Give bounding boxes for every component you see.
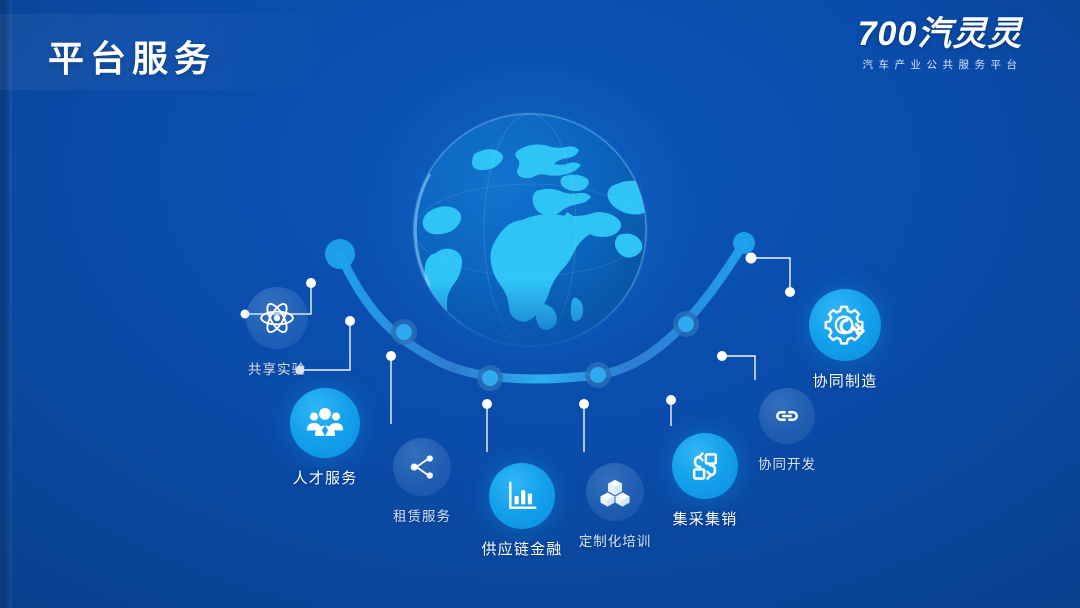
collaborative-development-bubble[interactable] [759,388,815,444]
logo-tagline: 汽车产业公共服务平台 [830,57,1050,72]
bar-chart-icon [502,476,542,516]
customized-training-label: 定制化培训 [550,530,680,550]
slide-canvas: 平台服务 700汽灵灵 汽车产业公共服务平台 [0,0,1080,608]
page-title: 平台服务 [48,30,216,82]
left-edge-strip [0,0,9,608]
exchange-arrows-icon [685,446,725,486]
node-collaborative-development[interactable]: 协同开发 [727,388,847,473]
collaborative-development-label: 协同开发 [727,453,847,473]
globe-icon [404,104,656,356]
supply-chain-finance-bubble[interactable] [489,463,555,529]
shared-lab-bubble[interactable] [246,287,308,349]
left-edge-highlight [9,0,12,608]
atom-icon [258,299,296,337]
globe-svg [404,104,656,356]
brand-logo: 700汽灵灵 汽车产业公共服务平台 [830,16,1050,72]
shared-lab-label: 共享实验 [217,358,337,378]
share-network-icon [405,450,439,484]
customized-training-bubble[interactable] [586,463,644,521]
gear-wrench-icon [822,302,868,348]
logo-wordmark: 700汽灵灵 [830,16,1050,52]
people-group-icon [303,401,347,445]
collaborative-manufacturing-label: 协同制造 [785,370,905,391]
leasing-service-bubble[interactable] [393,438,451,496]
centralized-procurement-label: 集采集销 [640,508,770,529]
globe-mask [404,104,656,356]
node-shared-lab[interactable]: 共享实验 [217,287,337,378]
node-collaborative-manufacturing[interactable]: 协同制造 [785,289,905,391]
collaborative-manufacturing-bubble[interactable] [809,289,881,361]
chain-link-icon [769,398,805,434]
blocks-icon [597,474,633,510]
talent-service-bubble[interactable] [290,388,360,458]
